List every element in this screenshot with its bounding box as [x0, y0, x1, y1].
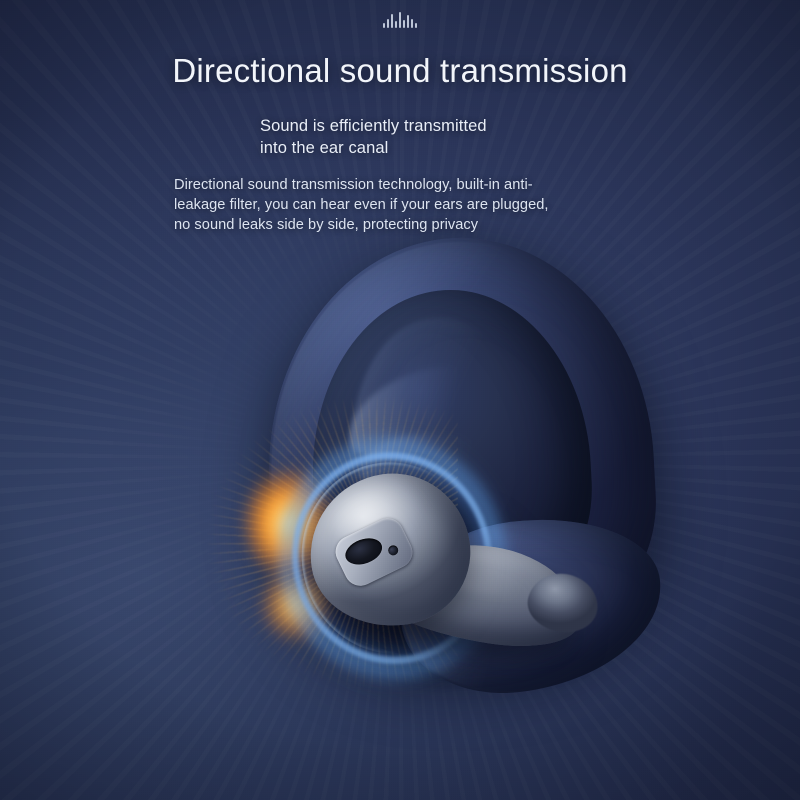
- description-line-3: no sound leaks side by side, protecting …: [174, 216, 549, 236]
- sound-wave-bar-9: [415, 23, 417, 28]
- product-feature-poster: Directional sound transmission Sound is …: [0, 0, 800, 800]
- sound-wave-icon: [0, 8, 800, 28]
- subtitle-block: Sound is efficiently transmittedinto the…: [260, 116, 487, 160]
- subtitle-line-1: Sound is efficiently transmitted: [260, 116, 487, 138]
- sound-wave-bar-7: [407, 15, 409, 28]
- sound-wave-bar-6: [403, 20, 405, 28]
- page-title: Directional sound transmission: [0, 52, 800, 90]
- sound-wave-bar-3: [391, 14, 393, 28]
- description-paragraph: Directional sound transmission technolog…: [174, 176, 549, 236]
- description-line-1: Directional sound transmission technolog…: [174, 176, 549, 196]
- sound-wave-bar-4: [395, 21, 397, 28]
- sound-wave-bar-1: [383, 23, 385, 28]
- subtitle-line-2: into the ear canal: [260, 138, 487, 160]
- sound-wave-bar-2: [387, 19, 389, 28]
- sound-wave-bar-8: [411, 19, 413, 28]
- description-line-2: leakage filter, you can hear even if you…: [174, 196, 549, 216]
- sound-wave-bar-5: [399, 12, 401, 28]
